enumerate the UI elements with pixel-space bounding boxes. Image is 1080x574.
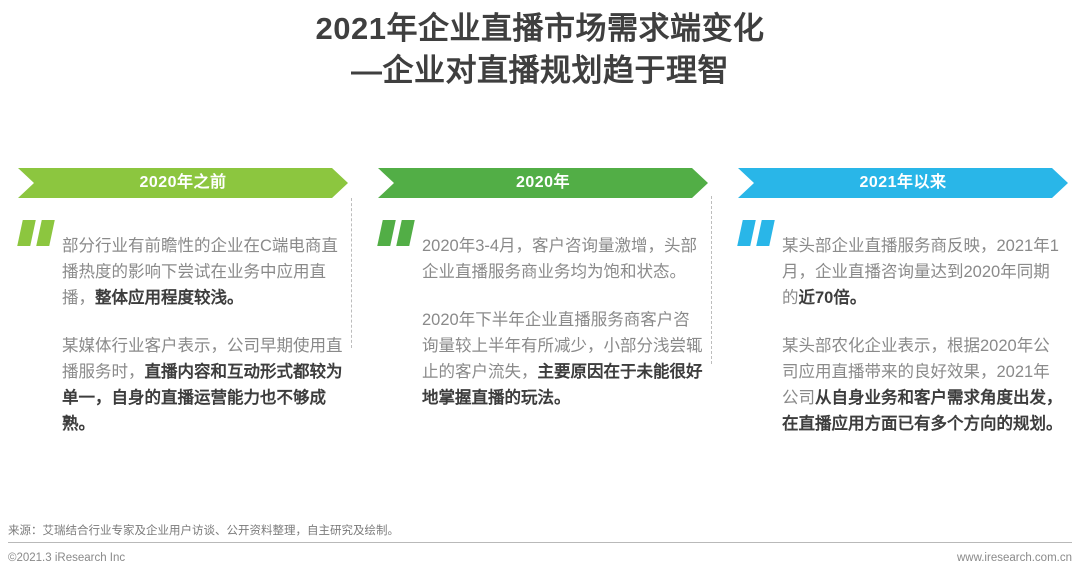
paragraph: 部分行业有前瞻性的企业在C端电商直播热度的影响下尝试在业务中应用直播，整体应用程… bbox=[62, 233, 346, 311]
paragraph: 某媒体行业客户表示，公司早期使用直播服务时，直播内容和互动形式都较为单一，自身的… bbox=[62, 333, 346, 437]
page-title-line-1: 2021年企业直播市场需求端变化 bbox=[0, 8, 1080, 50]
page-title: 2021年企业直播市场需求端变化 —企业对直播规划趋于理智 bbox=[0, 8, 1080, 92]
column-divider-1 bbox=[351, 198, 352, 348]
timeline-columns: 2020年之前 部分行业有前瞻性的企业在C端电商直播热度的影响下尝试在业务中应用… bbox=[0, 168, 1080, 478]
timeline-column-2-paragraphs: 2020年3-4月，客户咨询量激增，头部企业直播服务商业务均为饱和状态。 202… bbox=[422, 216, 706, 427]
footer: 来源：艾瑞结合行业专家及企业用户访谈、公开资料整理，自主研究及绘制。 ©2021… bbox=[8, 522, 1072, 574]
timeline-column-3-paragraphs: 某头部企业直播服务商反映，2021年1月，企业直播咨询量达到2020年同期的近7… bbox=[782, 216, 1066, 453]
timeline-banner-2[interactable]: 2020年 bbox=[378, 168, 708, 198]
timeline-column-3-body: 某头部企业直播服务商反映，2021年1月，企业直播咨询量达到2020年同期的近7… bbox=[720, 216, 1080, 453]
quote-mark-icon bbox=[378, 220, 422, 246]
page-title-line-2: —企业对直播规划趋于理智 bbox=[0, 50, 1080, 92]
paragraph-bold: 近70倍。 bbox=[799, 289, 867, 307]
timeline-banner-3-label: 2021年以来 bbox=[859, 168, 946, 198]
paragraph-plain: 2020年3-4月，客户咨询量激增，头部企业直播服务商业务均为饱和状态。 bbox=[422, 237, 697, 281]
timeline-banner-2-label: 2020年 bbox=[516, 168, 570, 198]
copyright-text: ©2021.3 iResearch Inc bbox=[8, 552, 125, 564]
timeline-banner-1-label: 2020年之前 bbox=[139, 168, 226, 198]
paragraph: 2020年3-4月，客户咨询量激增，头部企业直播服务商业务均为饱和状态。 bbox=[422, 233, 706, 285]
timeline-banner-1[interactable]: 2020年之前 bbox=[18, 168, 348, 198]
timeline-banner-3[interactable]: 2021年以来 bbox=[738, 168, 1068, 198]
paragraph: 某头部农化企业表示，根据2020年公司应用直播带来的良好效果，2021年公司从自… bbox=[782, 333, 1066, 437]
timeline-column-3: 2021年以来 某头部企业直播服务商反映，2021年1月，企业直播咨询量达到20… bbox=[720, 168, 1080, 478]
column-divider-2 bbox=[711, 196, 712, 364]
paragraph: 2020年下半年企业直播服务商客户咨询量较上半年有所减少，小部分浅尝辄止的客户流… bbox=[422, 307, 706, 411]
source-note: 来源：艾瑞结合行业专家及企业用户访谈、公开资料整理，自主研究及绘制。 bbox=[8, 522, 1072, 542]
quote-mark-icon bbox=[18, 220, 62, 246]
timeline-column-1-paragraphs: 部分行业有前瞻性的企业在C端电商直播热度的影响下尝试在业务中应用直播，整体应用程… bbox=[62, 216, 346, 453]
timeline-column-1-body: 部分行业有前瞻性的企业在C端电商直播热度的影响下尝试在业务中应用直播，整体应用程… bbox=[0, 216, 360, 453]
timeline-column-2: 2020年 2020年3-4月，客户咨询量激增，头部企业直播服务商业务均为饱和状… bbox=[360, 168, 720, 478]
paragraph-bold: 从自身业务和客户需求角度出发，在直播应用方面已有多个方向的规划。 bbox=[782, 389, 1063, 433]
timeline-column-2-body: 2020年3-4月，客户咨询量激增，头部企业直播服务商业务均为饱和状态。 202… bbox=[360, 216, 720, 427]
website-url[interactable]: www.iresearch.com.cn bbox=[957, 552, 1072, 564]
paragraph: 某头部企业直播服务商反映，2021年1月，企业直播咨询量达到2020年同期的近7… bbox=[782, 233, 1066, 311]
quote-mark-icon bbox=[738, 220, 782, 246]
paragraph-bold: 整体应用程度较浅。 bbox=[95, 289, 244, 307]
timeline-column-1: 2020年之前 部分行业有前瞻性的企业在C端电商直播热度的影响下尝试在业务中应用… bbox=[0, 168, 360, 478]
footer-bottom: ©2021.3 iResearch Inc www.iresearch.com.… bbox=[8, 543, 1072, 574]
